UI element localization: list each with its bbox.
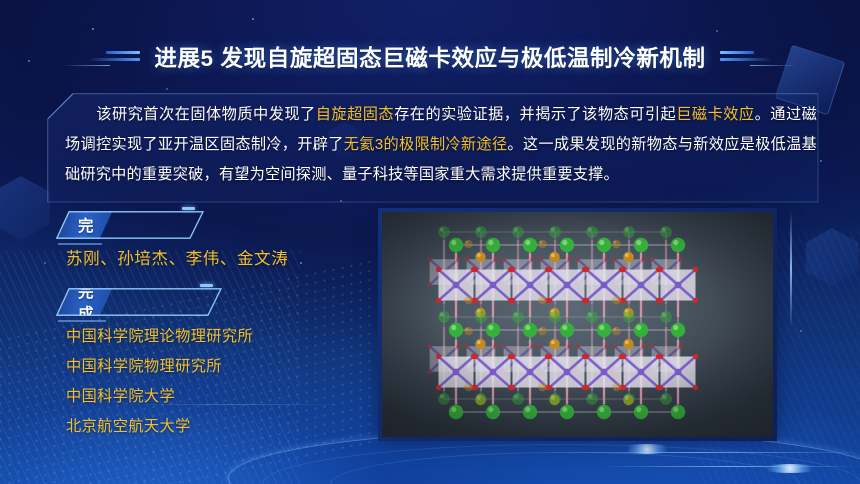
people-badge-accent-tick xyxy=(182,207,195,210)
summary-text-part-2: 存在的实验证据，并揭示了该物态可引起 xyxy=(394,106,676,123)
summary-highlight-spin-supersolid: 自旋超固态 xyxy=(316,106,394,123)
title-right-decoration-icon xyxy=(720,47,798,67)
star-3 xyxy=(166,88,168,90)
light-ring-small xyxy=(330,452,800,484)
summary-highlight-helium3-free: 无氦3的极限制冷新途径 xyxy=(344,136,508,153)
light-streak-1 xyxy=(540,452,860,453)
summary-highlight-magnetocaloric: 巨磁卡效应 xyxy=(676,106,754,123)
summary-paragraph: 该研究首次在固体物质中发现了自旋超固态存在的实验证据，并揭示了该物态可引起巨磁卡… xyxy=(47,100,823,190)
light-ring-medium xyxy=(262,444,860,484)
people-names: 苏刚、孙培杰、李伟、金文涛 xyxy=(66,245,288,269)
crystal-structure-figure xyxy=(382,212,773,437)
slide-title-row: 进展5 发现自旋超固态巨磁卡效应与极低温制冷新机制 xyxy=(0,41,860,73)
organization-list: 中国科学院理论物理研究所 中国科学院物理研究所 中国科学院大学 北京航空航天大学 xyxy=(66,322,253,442)
hexagon-decoration-top-left xyxy=(0,176,50,240)
glow-accent-1 xyxy=(620,444,674,454)
page-title: 进展5 发现自旋超固态巨磁卡效应与极低温制冷新机制 xyxy=(154,41,705,73)
hexagon-decoration-mid-right xyxy=(806,228,858,286)
star-5 xyxy=(716,30,718,32)
star-8 xyxy=(44,262,46,264)
figure-vignette xyxy=(382,212,773,437)
slide-root: 进展5 发现自旋超固态巨磁卡效应与极低温制冷新机制 该研究首次在固体物质中发现了… xyxy=(0,0,860,484)
star-4 xyxy=(252,18,254,20)
star-9 xyxy=(300,262,302,264)
light-streak-2 xyxy=(600,466,860,467)
glow-accent-2 xyxy=(760,464,820,473)
list-item: 北京航空航天大学 xyxy=(66,412,253,442)
list-item: 中国科学院物理研究所 xyxy=(66,352,253,382)
star-12 xyxy=(800,330,802,332)
star-2 xyxy=(92,28,94,30)
summary-text-part-1: 该研究首次在固体物质中发现了 xyxy=(96,106,316,123)
org-badge-accent-tick xyxy=(200,284,213,287)
list-item: 中国科学院大学 xyxy=(66,382,253,412)
right-accent-line xyxy=(790,210,792,328)
list-item: 中国科学院理论物理研究所 xyxy=(66,322,253,352)
figure-frame xyxy=(378,208,777,441)
title-left-decoration-icon xyxy=(62,47,140,67)
